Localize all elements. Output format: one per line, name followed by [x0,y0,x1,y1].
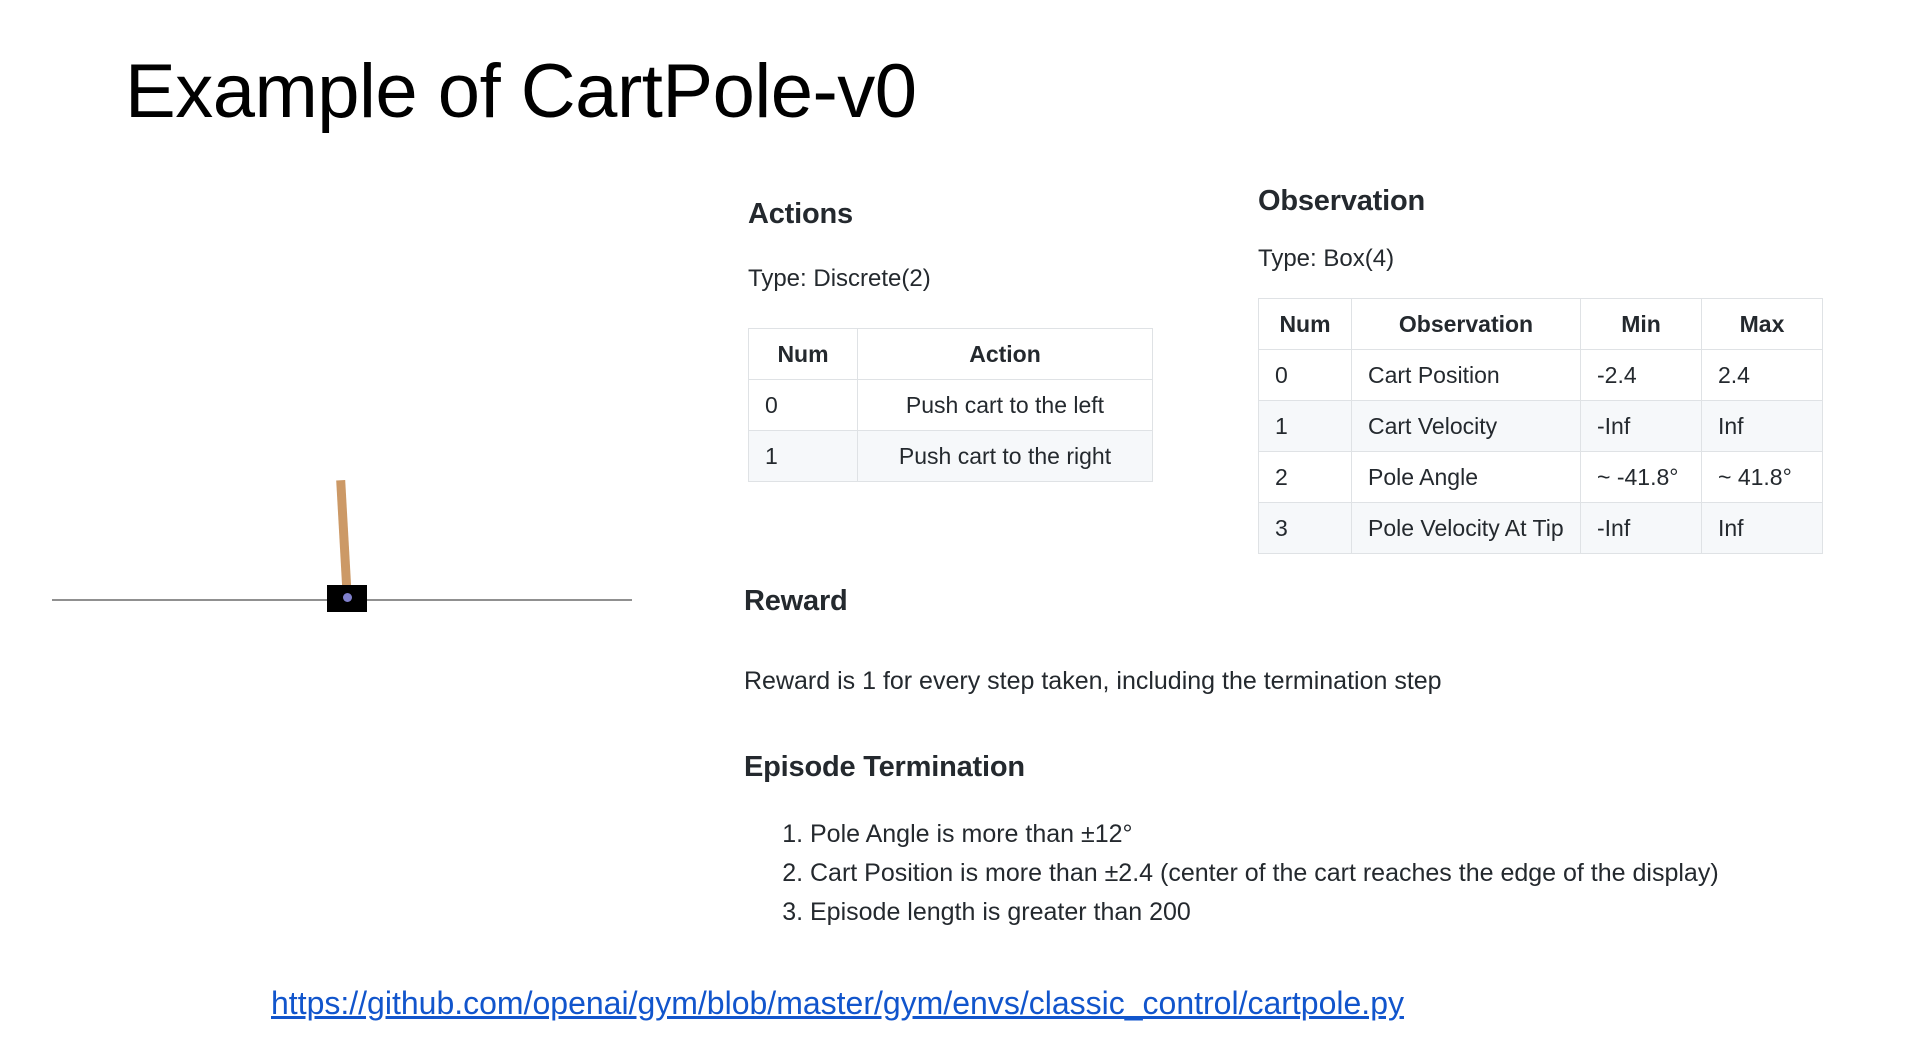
observation-cell-max: 2.4 [1702,350,1823,401]
observation-cell-min: ~ -41.8° [1581,452,1702,503]
observation-cell-max: Inf [1702,503,1823,554]
actions-col-action: Action [858,329,1153,380]
table-row: 0 Push cart to the left [749,380,1153,431]
table-row: 2 Pole Angle ~ -41.8° ~ 41.8° [1259,452,1823,503]
observation-heading: Observation [1258,185,1425,218]
observation-col-min: Min [1581,299,1702,350]
actions-heading: Actions [748,198,853,231]
observation-cell-max: Inf [1702,401,1823,452]
observation-type-label: Type: Box(4) [1258,245,1394,273]
actions-type-label: Type: Discrete(2) [748,265,931,293]
list-item: Cart Position is more than ±2.4 (center … [810,854,1719,893]
observation-cell-name: Pole Velocity At Tip [1352,503,1581,554]
table-header-row: Num Action [749,329,1153,380]
reward-heading: Reward [744,585,848,618]
cartpole-axle-dot [343,593,352,602]
observation-cell-max: ~ 41.8° [1702,452,1823,503]
observation-cell-num: 3 [1259,503,1352,554]
actions-cell-num: 1 [749,431,858,482]
list-item: Episode length is greater than 200 [810,893,1719,932]
page-title: Example of CartPole-v0 [125,48,917,135]
observation-cell-num: 1 [1259,401,1352,452]
observation-cell-name: Pole Angle [1352,452,1581,503]
actions-cell-action: Push cart to the left [858,380,1153,431]
observation-col-observation: Observation [1352,299,1581,350]
actions-col-num: Num [749,329,858,380]
cartpole-render [40,300,660,720]
table-row: 0 Cart Position -2.4 2.4 [1259,350,1823,401]
actions-table: Num Action 0 Push cart to the left 1 Pus… [748,328,1153,482]
episode-termination-heading: Episode Termination [744,751,1025,784]
table-row: 1 Cart Velocity -Inf Inf [1259,401,1823,452]
observation-cell-min: -Inf [1581,503,1702,554]
table-row: 1 Push cart to the right [749,431,1153,482]
actions-cell-num: 0 [749,380,858,431]
episode-termination-list: Pole Angle is more than ±12° Cart Positi… [766,815,1719,932]
observation-cell-min: -2.4 [1581,350,1702,401]
observation-cell-num: 2 [1259,452,1352,503]
observation-cell-num: 0 [1259,350,1352,401]
observation-col-num: Num [1259,299,1352,350]
reward-description: Reward is 1 for every step taken, includ… [744,667,1442,696]
observation-table: Num Observation Min Max 0 Cart Position … [1258,298,1823,554]
table-row: 3 Pole Velocity At Tip -Inf Inf [1259,503,1823,554]
observation-cell-name: Cart Position [1352,350,1581,401]
table-header-row: Num Observation Min Max [1259,299,1823,350]
source-link[interactable]: https://github.com/openai/gym/blob/maste… [271,985,1404,1022]
list-item: Pole Angle is more than ±12° [810,815,1719,854]
cartpole-pole [336,480,352,602]
actions-cell-action: Push cart to the right [858,431,1153,482]
observation-cell-name: Cart Velocity [1352,401,1581,452]
observation-cell-min: -Inf [1581,401,1702,452]
observation-col-max: Max [1702,299,1823,350]
